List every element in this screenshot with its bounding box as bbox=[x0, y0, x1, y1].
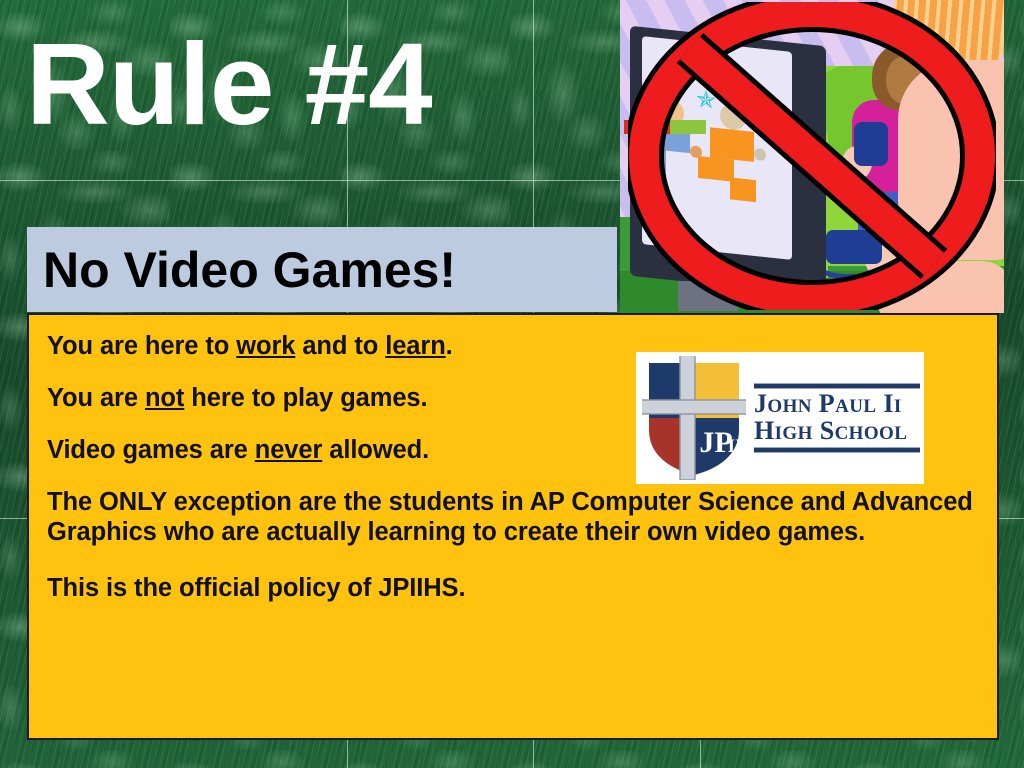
text-run: here to play games. bbox=[184, 384, 427, 412]
text-run: . bbox=[446, 332, 453, 360]
body-paragraph-1: You are here to work and to learn. bbox=[47, 331, 647, 361]
school-logo: JP II JOHN PAUL II HIGH SCHOOL bbox=[636, 352, 924, 484]
emphasized-word: not bbox=[145, 384, 184, 412]
logo-line-2: HIGH SCHOOL bbox=[754, 418, 920, 445]
slide: Rule #4 ✯ ✯ bbox=[0, 0, 1024, 768]
text-run: Video games are bbox=[47, 436, 255, 464]
heading-bar: No Video Games! bbox=[27, 227, 617, 312]
heading-text: No Video Games! bbox=[27, 245, 456, 295]
body-paragraph-5: This is the official policy of JPIIHS. bbox=[47, 573, 979, 603]
text-run: and to bbox=[295, 332, 385, 360]
prohibition-no-icon bbox=[628, 2, 996, 310]
body-paragraph-3: Video games are never allowed. bbox=[47, 435, 647, 465]
svg-text:II: II bbox=[728, 436, 743, 457]
text-run: You are bbox=[47, 384, 145, 412]
text-run: The ONLY exception are the students in A… bbox=[47, 488, 973, 546]
text-run: This is the official policy of JPIIHS. bbox=[47, 574, 465, 602]
body-paragraph-2: You are not here to play games. bbox=[47, 383, 647, 413]
logo-wordmark: JOHN PAUL II HIGH SCHOOL bbox=[754, 381, 924, 454]
logo-rule-bottom bbox=[754, 447, 920, 453]
logo-shield-icon: JP II bbox=[642, 356, 746, 480]
page-title: Rule #4 bbox=[26, 26, 432, 142]
emphasized-word: never bbox=[255, 436, 323, 464]
emphasized-word: work bbox=[236, 332, 295, 360]
text-run: You are here to bbox=[47, 332, 236, 360]
no-video-games-clipart: ✯ ✯ bbox=[620, 0, 1004, 313]
logo-rule-top bbox=[754, 383, 920, 389]
logo-line-1: JOHN PAUL II bbox=[754, 391, 920, 418]
body-paragraph-4: The ONLY exception are the students in A… bbox=[47, 487, 997, 547]
emphasized-word: learn bbox=[385, 332, 445, 360]
text-run: allowed. bbox=[322, 436, 429, 464]
